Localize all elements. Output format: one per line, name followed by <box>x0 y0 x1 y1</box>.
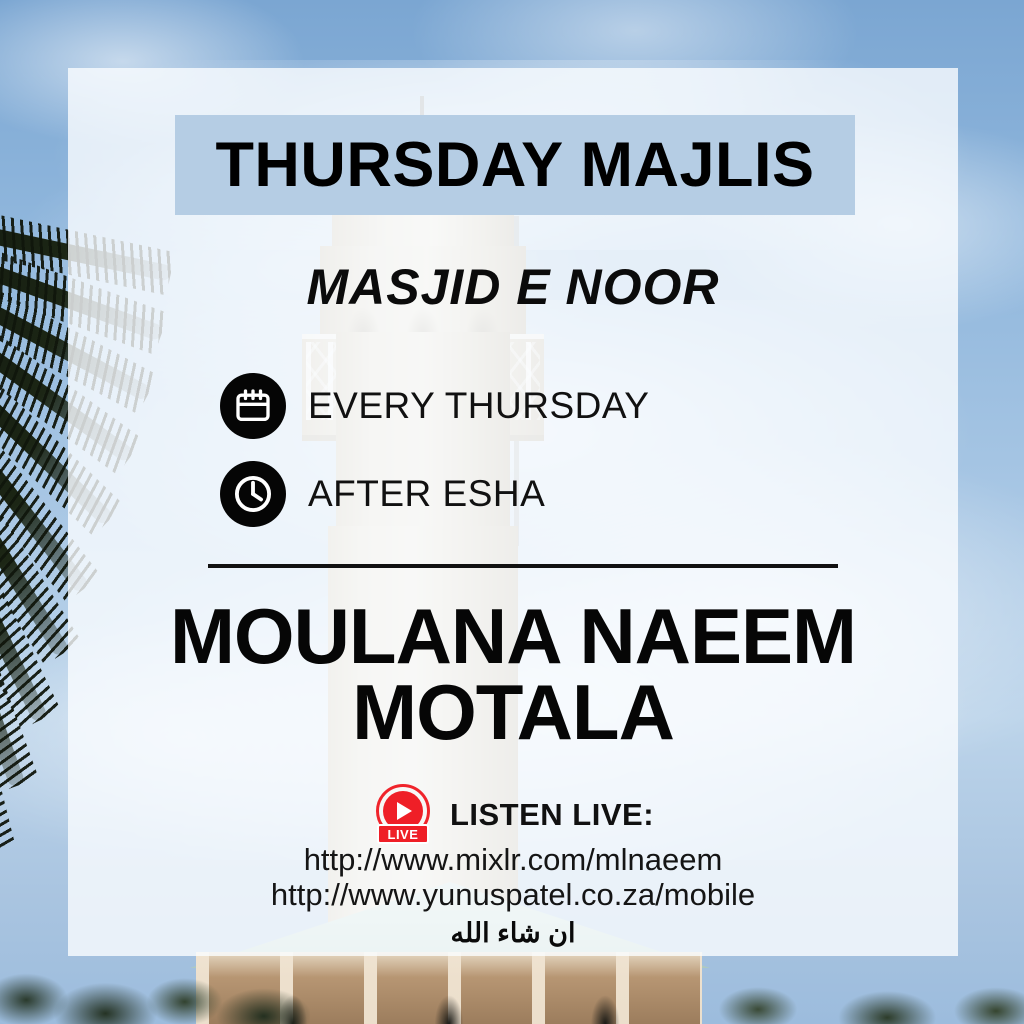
trees-right <box>690 952 1024 1024</box>
speaker-name-line1: MOULANA NAEEM <box>68 598 958 674</box>
detail-row-day: EVERY THURSDAY <box>220 373 649 439</box>
listen-live-label: LISTEN LIVE: <box>450 797 654 833</box>
title-banner: THURSDAY MAJLIS <box>175 115 855 215</box>
clock-icon <box>220 461 286 527</box>
majlis-poster: THURSDAY MAJLIS MASJID E NOOR EVERY THUR… <box>0 0 1024 1024</box>
detail-text-time: AFTER ESHA <box>308 473 545 515</box>
poster-content: THURSDAY MAJLIS MASJID E NOOR EVERY THUR… <box>68 68 958 956</box>
trees-left <box>0 946 310 1024</box>
masjid-name: MASJID E NOOR <box>68 258 958 316</box>
stream-url-yunuspatel[interactable]: http://www.yunuspatel.co.za/mobile <box>68 877 958 913</box>
section-divider <box>208 564 838 568</box>
arabic-inshallah-text: ان شاء الله <box>68 918 958 949</box>
detail-text-day: EVERY THURSDAY <box>308 385 649 427</box>
stream-url-mixlr[interactable]: http://www.mixlr.com/mlnaeem <box>68 842 958 878</box>
play-button-icon[interactable]: LIVE <box>372 784 434 846</box>
calendar-icon <box>220 373 286 439</box>
play-triangle <box>397 802 412 820</box>
speaker-name: MOULANA NAEEM MOTALA <box>68 598 958 751</box>
listen-live-row: LIVE LISTEN LIVE: <box>68 784 958 846</box>
live-badge-label: LIVE <box>377 824 429 844</box>
detail-row-time: AFTER ESHA <box>220 461 545 527</box>
page-title: THURSDAY MAJLIS <box>215 134 814 197</box>
speaker-name-line2: MOTALA <box>68 674 958 750</box>
